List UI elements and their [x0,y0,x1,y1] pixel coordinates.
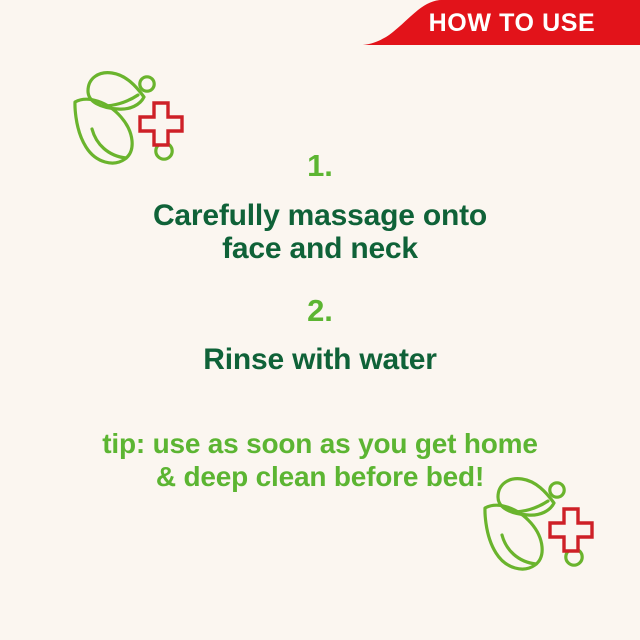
step-2-text: Rinse with water [0,343,640,376]
step-2: 2. Rinse with water [0,295,640,377]
step-1-text: Carefully massage onto face and neck [0,199,640,265]
how-to-use-poster: HOW TO USE [0,0,640,640]
tip-text: tip: use as soon as you get home & deep … [102,428,537,494]
step-1-number: 1. [0,150,640,183]
step-1: 1. Carefully massage onto face and neck [0,150,640,265]
step-2-number: 2. [0,295,640,328]
instructions-content: 1. Carefully massage onto face and neck … [0,0,640,640]
